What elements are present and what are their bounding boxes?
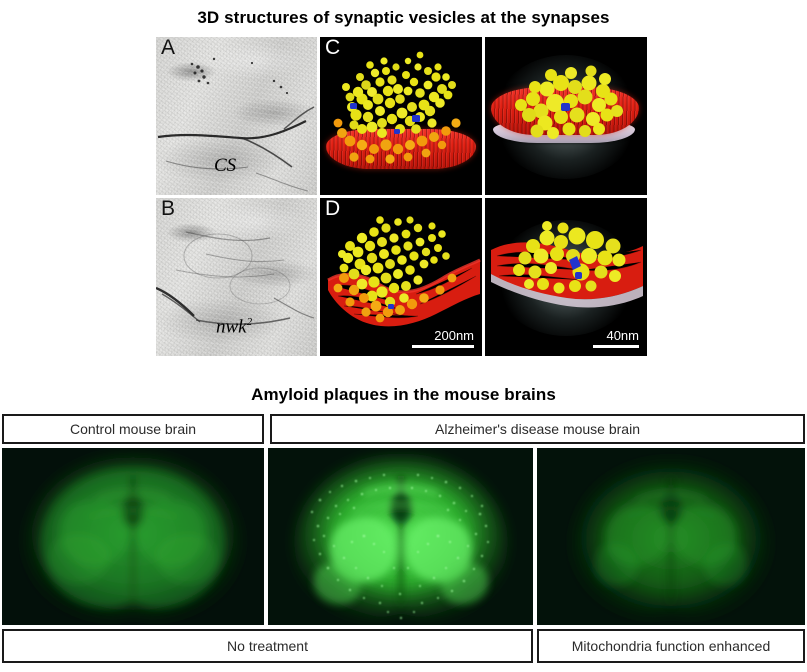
brain-column-headers: Control mouse brain Alzheimer's disease … [0, 414, 807, 444]
panel-a-electron-tomography: A CS [156, 37, 317, 195]
panel-letter-c: C [325, 37, 340, 59]
brain-svg-treated [537, 448, 805, 625]
panel-a-genotype-label: CS [214, 155, 236, 176]
header-control-mouse-brain: Control mouse brain [2, 414, 264, 444]
scalebar-40nm-label: 40nm [593, 328, 639, 343]
panel-b-genotype-sup: 2 [247, 316, 253, 328]
brain-figure: Control mouse brain Alzheimer's disease … [0, 414, 807, 672]
panel-c-3d-reconstruction: C [320, 37, 482, 195]
synapse-figure-title: 3D structures of synaptic vesicles at th… [0, 8, 807, 28]
panel-letter-d: D [325, 198, 340, 220]
brain-image-alzheimer-treated [537, 448, 805, 625]
brain-image-control [2, 448, 264, 625]
panel-b-genotype: nwk2 [216, 316, 252, 338]
scalebar-40nm: 40nm [593, 328, 639, 348]
panel-c-vesicles [320, 37, 481, 195]
panel-b-genotype-label: nwk [216, 316, 247, 337]
scalebar-200nm: 200nm [412, 328, 474, 348]
panel-tr-vesicles [485, 37, 647, 195]
brain-svg-alzheimer [268, 448, 533, 625]
footer-no-treatment: No treatment [2, 629, 533, 663]
footer-mitochondria-function-enhanced: Mitochondria function enhanced [537, 629, 805, 663]
header-alzheimer-mouse-brain: Alzheimer's disease mouse brain [270, 414, 805, 444]
brain-image-row [0, 448, 807, 625]
panel-top-right-3d-topview [485, 37, 647, 195]
scalebar-40nm-line [593, 345, 639, 348]
panel-letter-b: B [161, 198, 175, 220]
brain-image-alzheimer-untreated [268, 448, 533, 625]
em-features-a [156, 37, 317, 195]
brain-footer-labels: No treatment Mitochondria function enhan… [0, 629, 807, 667]
scalebar-200nm-label: 200nm [412, 328, 474, 343]
panel-bottom-right-3d-topview: 40nm [485, 198, 647, 356]
synapse-panel-grid: A CS [156, 37, 657, 358]
panel-a-genotype: CS [214, 155, 236, 177]
scalebar-200nm-line [412, 345, 474, 348]
plaque-figure-title: Amyloid plaques in the mouse brains [0, 385, 807, 405]
panel-d-3d-reconstruction: D 200nm [320, 198, 482, 356]
panel-b-electron-tomography: B nwk2 [156, 198, 317, 356]
panel-letter-a: A [161, 37, 175, 59]
brain-svg-control [2, 448, 264, 625]
